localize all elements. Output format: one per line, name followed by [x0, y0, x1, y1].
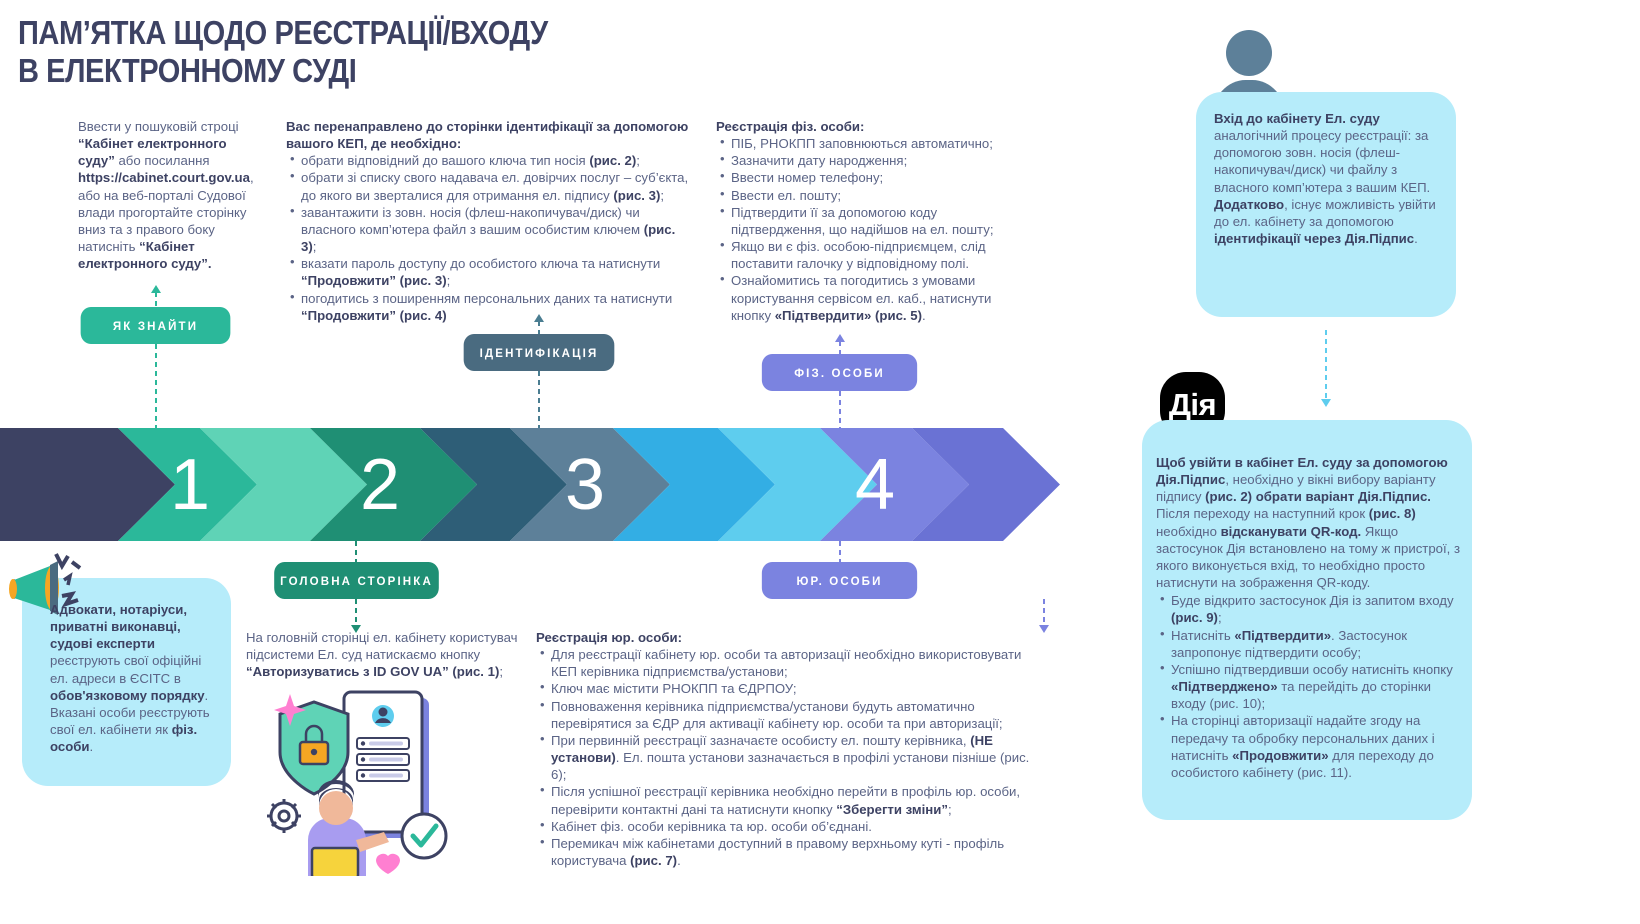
list-item: обрати зі списку свого надавача ел. дові… — [301, 169, 690, 203]
item-text: вказати пароль доступу до особистого клю… — [301, 256, 660, 271]
lawyers-text-1: реєструють свої офіційні ел. адреси в ЄС… — [50, 653, 201, 685]
diia-list: Буде відкрито застосунок Дія із запитом … — [1156, 592, 1464, 781]
item-bold: “Продовжити” (рис. 4) — [301, 308, 447, 323]
block-main-page: На головній сторінці ел. кабінету корист… — [246, 629, 536, 680]
main-page-text-c: ; — [499, 664, 503, 679]
connector-band-to-yur — [839, 541, 841, 562]
item-tail: ; — [313, 239, 317, 254]
main-page-button-label: “Авторизуватись з ID GOV UA” (рис. 1) — [246, 664, 499, 679]
step-number-1: 1 — [160, 428, 220, 541]
connector-yur-down — [1043, 599, 1045, 626]
item-text: ПІБ, РНОКПП заповнюються автоматично; — [731, 136, 993, 151]
list-item: Кабінет фіз. особи керівника та юр. особ… — [551, 818, 1048, 835]
login-bold-1: Вхід до кабінету Ел. суду — [1214, 111, 1380, 126]
item-bold: «Підтвердити» — [1234, 628, 1331, 643]
item-tail: ; — [1218, 610, 1222, 625]
item-text: Якщо ви є фіз. особою-підприємцем, слід … — [731, 239, 986, 271]
list-item: Успішно підтвердивши особу натисніть кно… — [1171, 661, 1464, 712]
item-text: Натисніть — [1171, 628, 1234, 643]
list-item: Зазначити дату народження; — [731, 152, 1016, 169]
lawyers-bold-2: обов'язковому порядку — [50, 688, 205, 703]
item-bold: (рис. 3) — [613, 188, 660, 203]
login-text-1: аналогічний процесу реєстрації: за допом… — [1214, 128, 1430, 194]
item-text: погодитись з поширенням персональних дан… — [301, 291, 672, 306]
list-item: Підтвердити її за допомогою коду підтвер… — [731, 204, 1016, 238]
item-text: Ключ має містити РНОКПП та ЄДРПОУ; — [551, 681, 797, 696]
diia-text-3: необхідно — [1156, 524, 1221, 539]
item-tail: ; — [948, 802, 952, 817]
item-bold: “Зберегти зміни” — [836, 802, 948, 817]
item-text: Повноваження керівника підприємства/уста… — [551, 699, 1003, 731]
how-to-find-text-c: або посилання — [115, 153, 210, 168]
lawyers-bold-1: Адвокати, нотаріуси, приватні виконавці,… — [50, 602, 187, 651]
pill-fiz-osoby-label: ФІЗ. ОСОБИ — [794, 366, 885, 380]
pill-holovna-storinka[interactable]: ГОЛОВНА СТОРІНКА — [274, 562, 439, 599]
list-item: Буде відкрито застосунок Дія із запитом … — [1171, 592, 1464, 626]
page-title-line-1: ПАМ’ЯТКА ЩОДО РЕЄСТРАЦІЇ/ВХОДУ — [18, 14, 581, 52]
connector-band-to-holovna — [355, 541, 357, 562]
login-bold-3: ідентифікації через Дія.Підпис — [1214, 231, 1414, 246]
list-item: Ввести ел. пошту; — [731, 187, 1016, 204]
item-bold: «Підтвердити» (рис. 5) — [775, 308, 922, 323]
list-item: При первинній реєстрації зазначаєте особ… — [551, 732, 1048, 783]
block-diia: Щоб увійти в кабінет Ел. суду за допомог… — [1156, 454, 1464, 781]
item-text: Успішно підтвердивши особу натисніть кно… — [1171, 662, 1453, 677]
pill-fiz-osoby[interactable]: ФІЗ. ОСОБИ — [762, 354, 917, 391]
list-item: погодитись з поширенням персональних дан… — [301, 290, 690, 324]
how-to-find-link[interactable]: https://cabinet.court.gov.ua — [78, 170, 250, 185]
lawyers-text-3: . — [90, 739, 94, 754]
step-number-4: 4 — [845, 428, 905, 541]
block-lawyers: Адвокати, нотаріуси, приватні виконавці,… — [50, 601, 210, 755]
list-item: На сторінці авторизації надайте згоду на… — [1171, 712, 1464, 781]
list-item: обрати відповідний до вашого ключа тип н… — [301, 152, 690, 169]
diia-bold-3: (рис. 8) — [1369, 506, 1416, 521]
block-how-to-find: Ввести у пошуковій строці “Кабінет елект… — [78, 118, 264, 272]
item-bold: (рис. 7) — [630, 853, 677, 868]
list-item: Натисніть «Підтвердити». Застосунок запр… — [1171, 627, 1464, 661]
fiz-osoby-list: ПІБ, РНОКПП заповнюються автоматично; За… — [716, 135, 1016, 324]
avatar-head-icon — [1226, 30, 1272, 76]
security-illustration — [256, 690, 486, 876]
pill-yak-znayty-label: ЯК ЗНАЙТИ — [113, 319, 198, 333]
item-text: Ввести номер телефону; — [731, 170, 883, 185]
diia-logo-label: Дія — [1169, 387, 1216, 423]
list-item: Повноваження керівника підприємства/уста… — [551, 698, 1048, 732]
steps-chevron-band: 1 2 3 4 — [0, 428, 1060, 541]
item-text: Зазначити дату народження; — [731, 153, 907, 168]
list-item: ПІБ, РНОКПП заповнюються автоматично; — [731, 135, 1016, 152]
item-tail: . — [922, 308, 926, 323]
block-fiz-osoby: Реєстрація фіз. особи: ПІБ, РНОКПП запов… — [716, 118, 1016, 324]
login-bold-2: Додатково — [1214, 197, 1284, 212]
item-bold: «Підтверджено» — [1171, 679, 1278, 694]
connector-holovna-down — [355, 599, 357, 626]
item-tail: . — [677, 853, 681, 868]
block-identification: Вас перенаправлено до сторінки ідентифік… — [286, 118, 690, 324]
identification-list: обрати відповідний до вашого ключа тип н… — [286, 152, 690, 324]
list-item: Для реєстрації кабінету юр. особи та авт… — [551, 646, 1048, 680]
item-text: Перемикач між кабінетами доступний в пра… — [551, 836, 1004, 868]
pill-yur-osoby[interactable]: ЮР. ОСОБИ — [762, 562, 917, 599]
item-text: При первинній реєстрації зазначаєте особ… — [551, 733, 970, 748]
list-item: завантажити із зовн. носія (флеш-накопич… — [301, 204, 690, 255]
list-item: вказати пароль доступу до особистого клю… — [301, 255, 690, 289]
item-bold: «Продовжити» — [1232, 748, 1328, 763]
connector-login-to-diia — [1325, 330, 1327, 400]
item-text: Буде відкрито застосунок Дія із запитом … — [1171, 593, 1454, 608]
step-number-2: 2 — [350, 428, 410, 541]
yur-osoby-list: Для реєстрації кабінету юр. особи та авт… — [536, 646, 1048, 869]
item-text: Підтвердити її за допомогою коду підтвер… — [731, 205, 994, 237]
item-text: Кабінет фіз. особи керівника та юр. особ… — [551, 819, 872, 834]
how-to-find-text-a: Ввести у пошуковій строці — [78, 119, 239, 134]
infographic-canvas: ПАМ’ЯТКА ЩОДО РЕЄСТРАЦІЇ/ВХОДУ В ЕЛЕКТРО… — [0, 0, 1640, 924]
item-text: обрати відповідний до вашого ключа тип н… — [301, 153, 589, 168]
connector-step3-to-band — [839, 391, 841, 428]
pill-identyfikatsiya-label: ІДЕНТИФІКАЦІЯ — [480, 346, 599, 360]
step-number-3: 3 — [555, 428, 615, 541]
item-bold: “Продовжити” (рис. 3) — [301, 273, 447, 288]
list-item: Ознайомитись та погодитись з умовами кор… — [731, 272, 1016, 323]
pill-yak-znayty[interactable]: ЯК ЗНАЙТИ — [81, 307, 231, 344]
item-text: Для реєстрації кабінету юр. особи та авт… — [551, 647, 1021, 679]
list-item: Якщо ви є фіз. особою-підприємцем, слід … — [731, 238, 1016, 272]
item-tail: ; — [660, 188, 664, 203]
page-title-line-2: В ЕЛЕКТРОННОМУ СУДІ — [18, 52, 581, 90]
diia-text-2: Після переходу на наступний крок — [1156, 506, 1369, 521]
item-tail: ; — [447, 273, 451, 288]
connector-step2-to-band — [538, 371, 540, 428]
login-text-3: . — [1414, 231, 1418, 246]
item-text: завантажити із зовн. носія (флеш-накопич… — [301, 205, 644, 237]
diia-bold-4: відсканувати QR-код. — [1221, 524, 1362, 539]
item-text: Ввести ел. пошту; — [731, 188, 841, 203]
item-bold: (рис. 2) — [589, 153, 636, 168]
main-page-text-a: На головній сторінці ел. кабінету корист… — [246, 630, 518, 662]
fiz-osoby-heading: Реєстрація фіз. особи: — [716, 118, 1016, 135]
list-item: Після успішної реєстрації керівника необ… — [551, 783, 1048, 817]
item-tail: . Ел. пошта установи зазначається в проф… — [551, 750, 1029, 782]
pill-identyfikatsiya[interactable]: ІДЕНТИФІКАЦІЯ — [464, 334, 615, 371]
identification-heading: Вас перенаправлено до сторінки ідентифік… — [286, 118, 690, 152]
block-login: Вхід до кабінету Ел. суду аналогічний пр… — [1214, 110, 1442, 247]
pill-yur-osoby-label: ЮР. ОСОБИ — [796, 574, 882, 588]
yur-osoby-heading: Реєстрація юр. особи: — [536, 629, 1048, 646]
list-item: Перемикач між кабінетами доступний в пра… — [551, 835, 1048, 869]
item-bold: (рис. 9) — [1171, 610, 1218, 625]
item-tail: ; — [636, 153, 640, 168]
block-yur-osoby: Реєстрація юр. особи: Для реєстрації каб… — [536, 629, 1048, 869]
connector-step1-to-band — [155, 344, 157, 428]
list-item: Ввести номер телефону; — [731, 169, 1016, 186]
pill-holovna-storinka-label: ГОЛОВНА СТОРІНКА — [280, 574, 433, 588]
page-title: ПАМ’ЯТКА ЩОДО РЕЄСТРАЦІЇ/ВХОДУ В ЕЛЕКТРО… — [18, 14, 581, 89]
list-item: Ключ має містити РНОКПП та ЄДРПОУ; — [551, 680, 1048, 697]
diia-bold-2: (рис. 2) обрати варіант Дія.Підпис. — [1205, 489, 1431, 504]
